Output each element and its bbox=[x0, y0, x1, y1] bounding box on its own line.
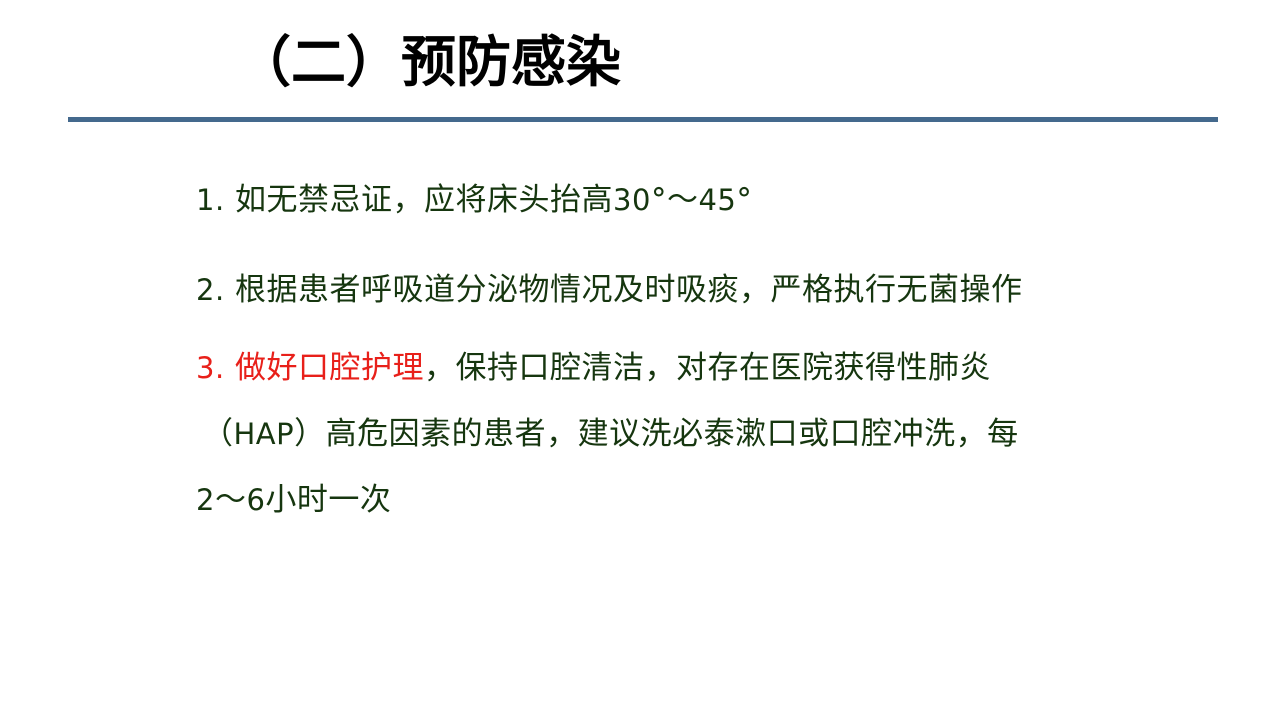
range-tilde: ～ bbox=[215, 482, 247, 518]
title-divider-rule bbox=[68, 117, 1218, 122]
title-block: （二）预防感染 bbox=[0, 22, 1280, 110]
list-item-text: 小时一次 bbox=[265, 482, 391, 518]
interval-min-value: 2 bbox=[196, 483, 215, 517]
list-item-text: ）高危因素的患者，建议洗必泰漱口或口腔冲洗，每 bbox=[294, 416, 1019, 452]
list-item-value-45: 45 bbox=[698, 183, 736, 217]
list-item-number: 2. bbox=[196, 273, 225, 307]
list-item-text: 根据患者呼吸道分泌物情况及时吸痰，严格执行无菌操作 bbox=[225, 272, 1023, 308]
degree-symbol-icon: ° bbox=[651, 182, 667, 218]
slide-canvas: （二）预防感染 1. 如无禁忌证，应将床头抬高30°～45° 2. 根据患者呼吸… bbox=[0, 0, 1280, 720]
list-item: 2. 根据患者呼吸道分泌物情况及时吸痰，严格执行无菌操作 bbox=[196, 245, 1236, 335]
list-item: 1. 如无禁忌证，应将床头抬高30°～45° bbox=[196, 155, 1236, 245]
list-item-number: 3. bbox=[196, 351, 225, 385]
paren-open: （ bbox=[202, 416, 234, 452]
range-tilde: ～ bbox=[667, 182, 699, 218]
interval-max-value: 6 bbox=[246, 483, 265, 517]
body-content: 1. 如无禁忌证，应将床头抬高30°～45° 2. 根据患者呼吸道分泌物情况及时… bbox=[196, 155, 1236, 533]
list-item-text: ，保持口腔清洁，对存在医院获得性肺炎 bbox=[424, 350, 991, 386]
list-item-text: 如无禁忌证，应将床头抬高 bbox=[225, 182, 613, 218]
list-item-continuation: （HAP）高危因素的患者，建议洗必泰漱口或口腔冲洗，每 bbox=[196, 401, 1236, 467]
list-item: 3. 做好口腔护理，保持口腔清洁，对存在医院获得性肺炎 bbox=[196, 335, 1236, 401]
list-item-continuation: 2～6小时一次 bbox=[196, 467, 1236, 533]
list-item-value-30: 30 bbox=[613, 183, 651, 217]
list-item-number: 1. bbox=[196, 183, 225, 217]
abbreviation-hap: HAP bbox=[234, 417, 295, 451]
list-item-highlight-text: 做好口腔护理 bbox=[225, 350, 424, 386]
degree-symbol-icon: ° bbox=[736, 182, 752, 218]
page-title: （二）预防感染 bbox=[236, 22, 621, 102]
